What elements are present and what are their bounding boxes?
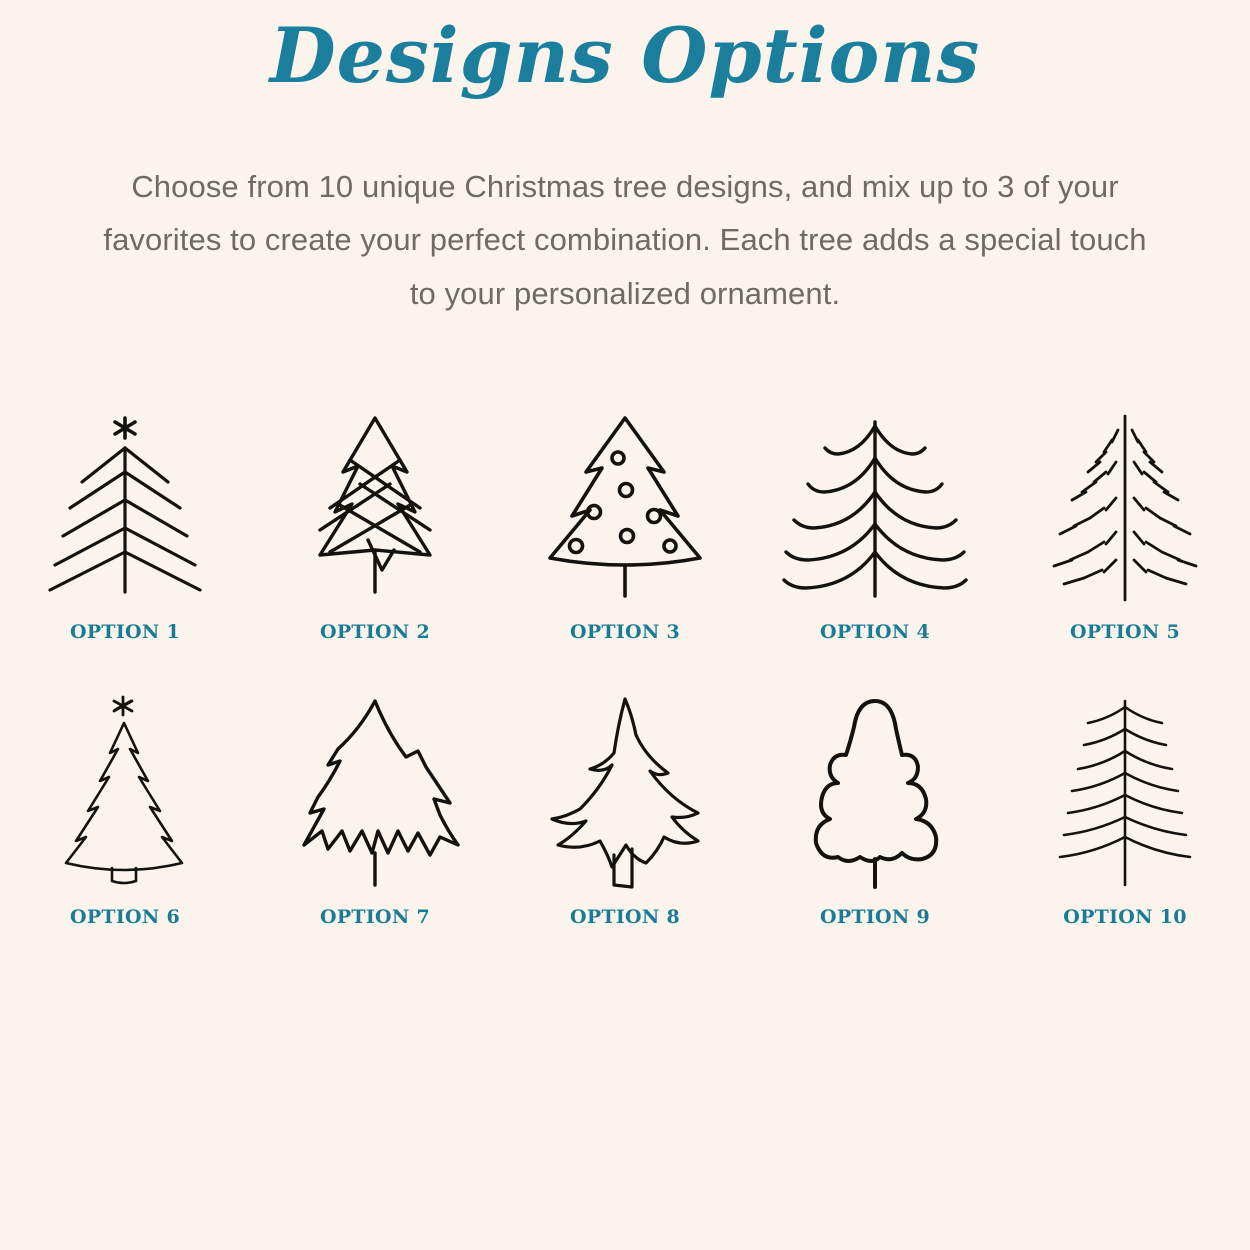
tree-crossed-garland-tiers-icon <box>280 400 470 615</box>
option-label: OPTION 9 <box>820 906 930 928</box>
option-card-7[interactable]: OPTION 7 <box>250 685 500 970</box>
option-card-8[interactable]: OPTION 8 <box>500 685 750 970</box>
option-card-3[interactable]: OPTION 3 <box>500 400 750 685</box>
option-card-4[interactable]: OPTION 4 <box>750 400 1000 685</box>
page-title: Designs Options <box>0 18 1250 94</box>
option-label: OPTION 3 <box>570 621 680 643</box>
option-card-9[interactable]: OPTION 9 <box>750 685 1000 970</box>
tree-options-grid: OPTION 1 OPTION 2 <box>0 400 1250 970</box>
option-label: OPTION 2 <box>320 621 430 643</box>
option-card-2[interactable]: OPTION 2 <box>250 400 500 685</box>
designs-options-page: Designs Options Choose from 10 unique Ch… <box>0 0 1250 1250</box>
option-card-10[interactable]: OPTION 10 <box>1000 685 1250 970</box>
option-label: OPTION 7 <box>320 906 430 928</box>
option-label: OPTION 6 <box>70 906 180 928</box>
option-card-1[interactable]: OPTION 1 <box>0 400 250 685</box>
tree-outline-with-ornaments-icon <box>530 400 720 615</box>
tree-bushy-jagged-tiers-icon <box>280 685 470 900</box>
option-card-5[interactable]: OPTION 5 <box>1000 400 1250 685</box>
option-label: OPTION 5 <box>1070 621 1180 643</box>
option-label: OPTION 8 <box>570 906 680 928</box>
option-label: OPTION 10 <box>1063 906 1187 928</box>
option-card-6[interactable]: OPTION 6 <box>0 685 250 970</box>
tree-drooping-curved-branches-icon <box>780 400 970 615</box>
tree-zigzag-outline-with-star-icon <box>30 685 220 900</box>
page-description: Choose from 10 unique Christmas tree des… <box>95 160 1155 320</box>
tree-chevron-branches-with-star-icon <box>30 400 220 615</box>
option-label: OPTION 1 <box>70 621 180 643</box>
option-label: OPTION 4 <box>820 621 930 643</box>
tree-needle-dashes-icon <box>1030 400 1220 615</box>
tree-swooping-boughs-icon <box>530 685 720 900</box>
tree-rounded-puffy-tiers-icon <box>780 685 970 900</box>
tree-fine-upcurved-branches-icon <box>1030 685 1220 900</box>
